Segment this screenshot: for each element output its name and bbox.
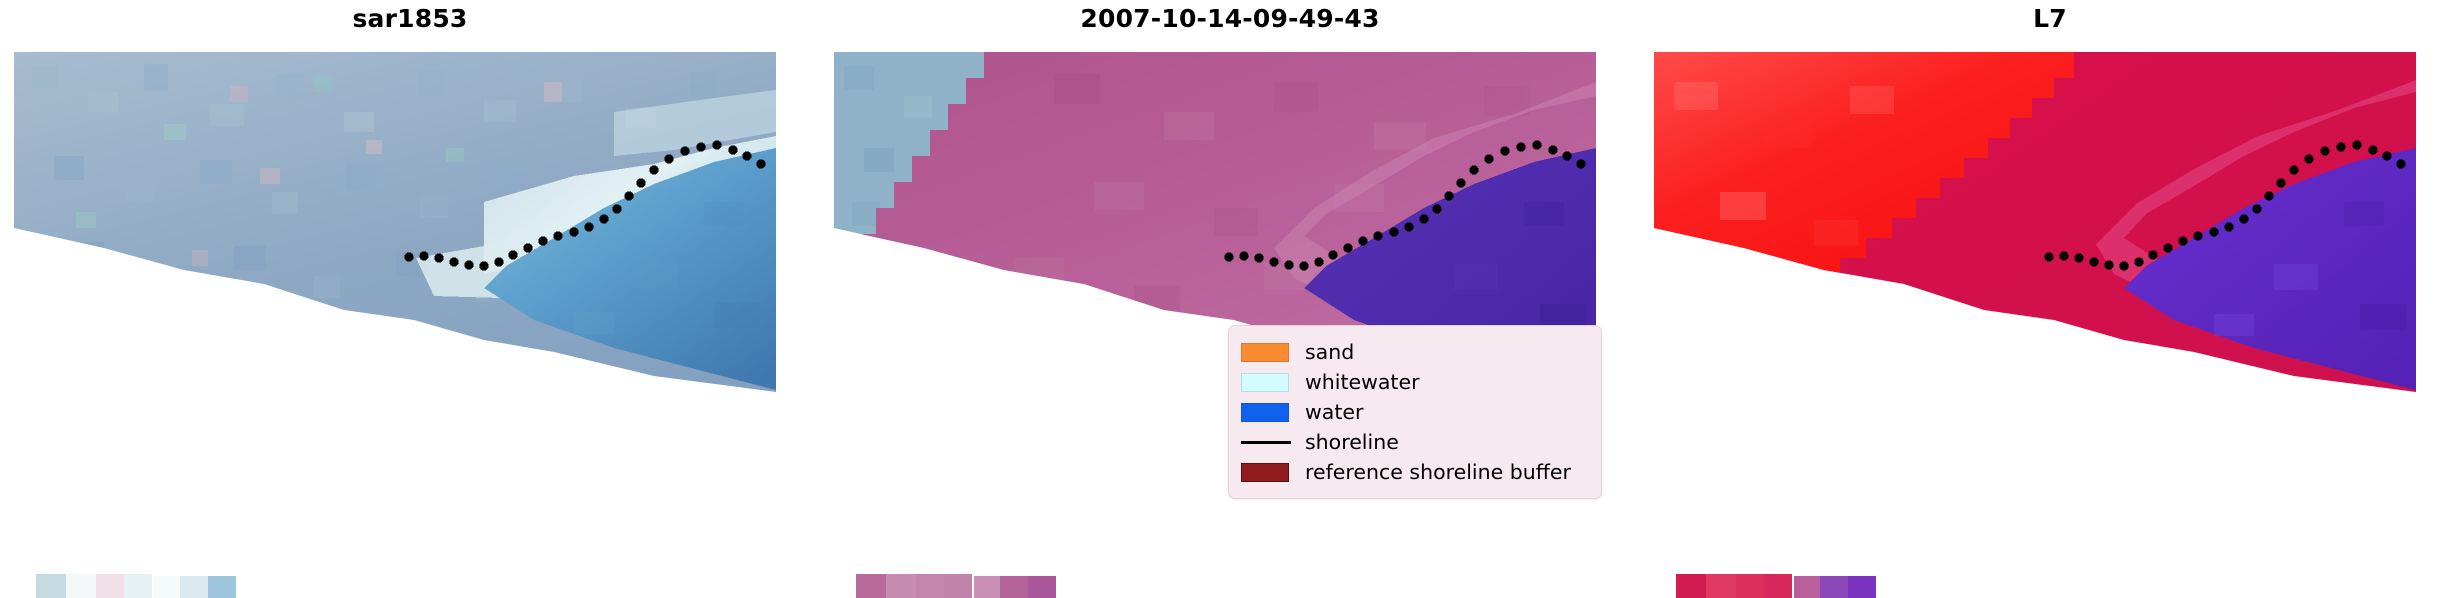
reference-buffer-color-swatch bbox=[1241, 463, 1289, 482]
figure-canvas: sar1853 bbox=[0, 0, 2460, 598]
panel-classified: 2007-10-14-09-49-43 bbox=[820, 0, 1640, 598]
panel-l7: L7 bbox=[1640, 0, 2460, 598]
panel-title-1: 2007-10-14-09-49-43 bbox=[820, 4, 1640, 33]
shoreline-line-swatch bbox=[1241, 441, 1291, 444]
whitewater-swatch-wrap bbox=[1241, 367, 1305, 397]
legend-label-sand: sand bbox=[1305, 342, 1354, 363]
panel-title-2: L7 bbox=[1640, 4, 2460, 33]
reference-buffer-swatch-wrap bbox=[1241, 457, 1305, 487]
legend-item-whitewater: whitewater bbox=[1241, 367, 1589, 397]
axes-sar1853[interactable] bbox=[14, 52, 806, 598]
water-swatch-wrap bbox=[1241, 397, 1305, 427]
sand-swatch-wrap bbox=[1241, 337, 1305, 367]
shoreline-swatch-wrap bbox=[1241, 427, 1305, 457]
image-fragments-1 bbox=[856, 574, 1056, 598]
image-fragments-0 bbox=[36, 574, 236, 598]
image-tile-2 bbox=[1654, 52, 2446, 598]
panel-title-0: sar1853 bbox=[0, 4, 820, 33]
legend-box: sand whitewater water shoreline referenc… bbox=[1228, 325, 1602, 499]
water-color-swatch bbox=[1241, 403, 1289, 422]
legend-item-reference-buffer: reference shoreline buffer bbox=[1241, 457, 1589, 487]
image-tile-0 bbox=[14, 52, 806, 598]
panel-sar1853: sar1853 bbox=[0, 0, 820, 598]
legend-label-water: water bbox=[1305, 402, 1363, 423]
legend-label-whitewater: whitewater bbox=[1305, 372, 1420, 393]
legend-item-water: water bbox=[1241, 397, 1589, 427]
legend-item-sand: sand bbox=[1241, 337, 1589, 367]
image-fragments-2 bbox=[1676, 574, 1876, 598]
sand-color-swatch bbox=[1241, 343, 1289, 362]
legend-label-reference-buffer: reference shoreline buffer bbox=[1305, 462, 1571, 483]
whitewater-color-swatch bbox=[1241, 373, 1289, 392]
legend-label-shoreline: shoreline bbox=[1305, 432, 1399, 453]
legend-item-shoreline: shoreline bbox=[1241, 427, 1589, 457]
axes-l7[interactable] bbox=[1654, 52, 2446, 598]
